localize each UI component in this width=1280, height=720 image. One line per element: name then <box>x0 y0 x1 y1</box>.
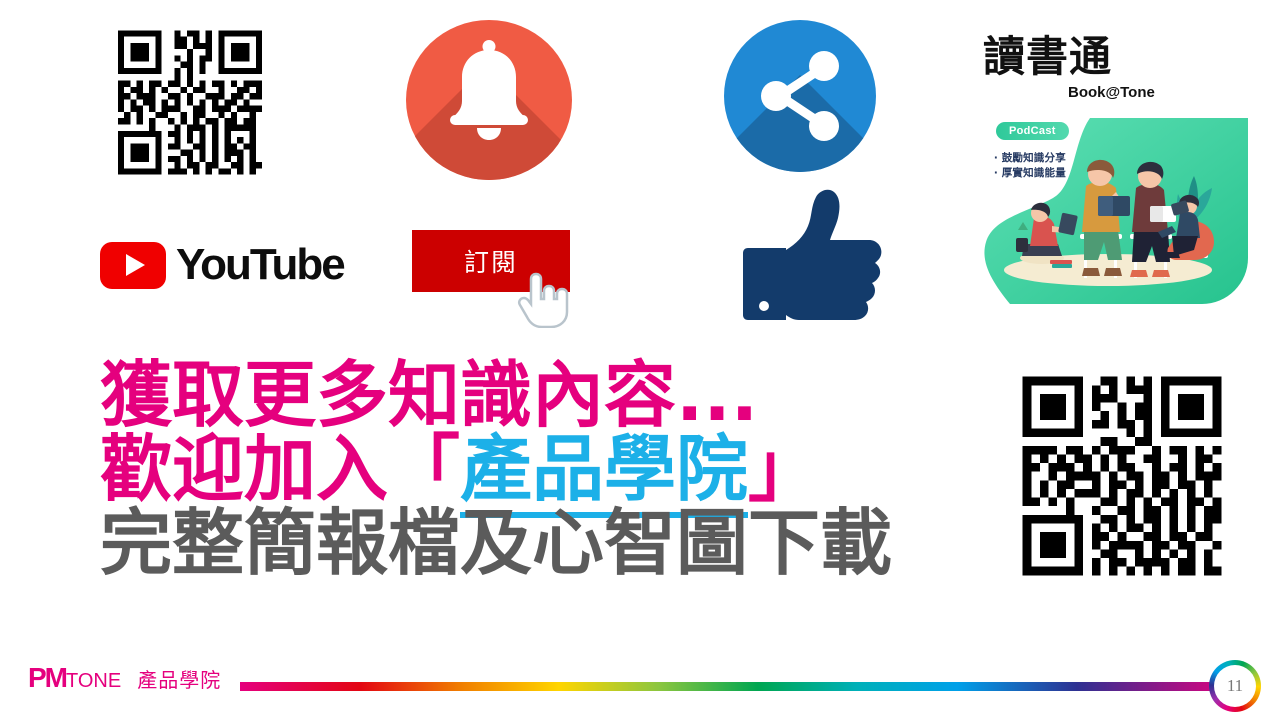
share-icon-glyph <box>724 20 876 172</box>
hand-pointer-icon <box>512 266 574 328</box>
play-triangle-icon <box>126 254 145 276</box>
bell-icon[interactable] <box>406 20 572 180</box>
pmtone-logo-chinese: 產品學院 <box>137 670 221 690</box>
podcast-badge: PodCast <box>996 122 1069 140</box>
page-number: 11 <box>1214 665 1256 707</box>
headline-line-2: 歡迎加入「產品學院」 <box>100 432 1000 506</box>
headline-line-1: 獲取更多知識內容... <box>100 358 1000 432</box>
headline-line-3: 完整簡報檔及心智圖下載 <box>100 506 1000 580</box>
qr-code-icon-youtube[interactable] <box>100 24 280 181</box>
headline-line-2-prefix: 歡迎加入「 <box>100 427 460 511</box>
youtube-logo[interactable]: YouTube <box>100 235 300 295</box>
slide-canvas: YouTube 訂閱 讀書通 Book@Tone <box>0 0 1280 720</box>
pmtone-logo-pm: PM <box>28 664 66 692</box>
booktone-title: 讀書通 <box>983 36 1112 78</box>
pmtone-logo-tone: TONE <box>66 671 121 691</box>
booktone-subtitle: Book@Tone <box>1068 84 1155 101</box>
bell-icon-glyph <box>406 20 572 180</box>
rainbow-divider <box>240 682 1236 691</box>
youtube-play-icon <box>100 242 166 289</box>
booktone-illustration <box>980 118 1248 304</box>
share-icon[interactable] <box>724 20 876 172</box>
headline-block: 獲取更多知識內容... 歡迎加入「產品學院」 完整簡報檔及心智圖下載 <box>100 358 1000 580</box>
pmtone-logo[interactable]: PM TONE 產品學院 <box>28 664 221 692</box>
booktone-bullet-1: ‧ 鼓勵知識分享 <box>994 151 1066 166</box>
booktone-card: 讀書通 Book@Tone <box>980 36 1248 306</box>
headline-line-2-suffix: 」 <box>748 427 820 511</box>
booktone-bullet-2: ‧ 厚實知識能量 <box>994 166 1066 181</box>
footer: PM TONE 產品學院 <box>0 648 1280 720</box>
qr-code-icon-pmtone[interactable] <box>1014 368 1230 584</box>
booktone-bullets: ‧ 鼓勵知識分享 ‧ 厚實知識能量 <box>994 151 1066 181</box>
page-number-badge: 11 <box>1209 660 1261 712</box>
thumbs-up-icon[interactable] <box>726 188 888 330</box>
youtube-wordmark: YouTube <box>176 243 344 287</box>
